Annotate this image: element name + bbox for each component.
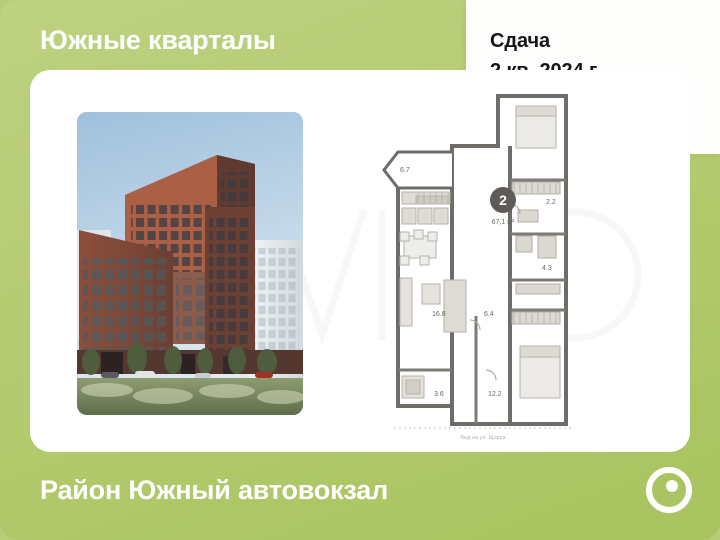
building-photo xyxy=(77,112,303,415)
delivery-label: Сдача xyxy=(490,26,720,56)
area-label-balcony: 6.7 xyxy=(400,167,410,174)
area-label-bedroom: 12.2 xyxy=(488,391,502,398)
area-label-small-room: 2.2 xyxy=(546,199,556,206)
complex-name-title: Южные кварталы xyxy=(40,18,460,62)
listing-promo-card: Южные кварталы Сдача 2 кв. 2024 г. Ставк… xyxy=(0,0,720,540)
main-content-card: 6.7 2.2 4.3 16.8 6.4 3.6 12.2 2 67,1 м² … xyxy=(30,70,690,452)
total-area-label: 67,1 м² xyxy=(492,219,515,226)
rooms-badge-number: 2 xyxy=(499,192,507,208)
district-title: Район Южный автовокзал xyxy=(40,468,388,512)
area-label-hall: 6.4 xyxy=(484,311,494,318)
avito-eye-logo xyxy=(645,466,693,514)
floor-plan: 6.7 2.2 4.3 16.8 6.4 3.6 12.2 2 67,1 м² … xyxy=(360,84,670,442)
area-label-wardrobe: 3.6 xyxy=(434,391,444,398)
area-label-living: 16.8 xyxy=(432,311,446,318)
plan-view-caption: Вид на ул. Щорса xyxy=(460,435,506,441)
area-label-bathroom: 4.3 xyxy=(542,265,552,272)
